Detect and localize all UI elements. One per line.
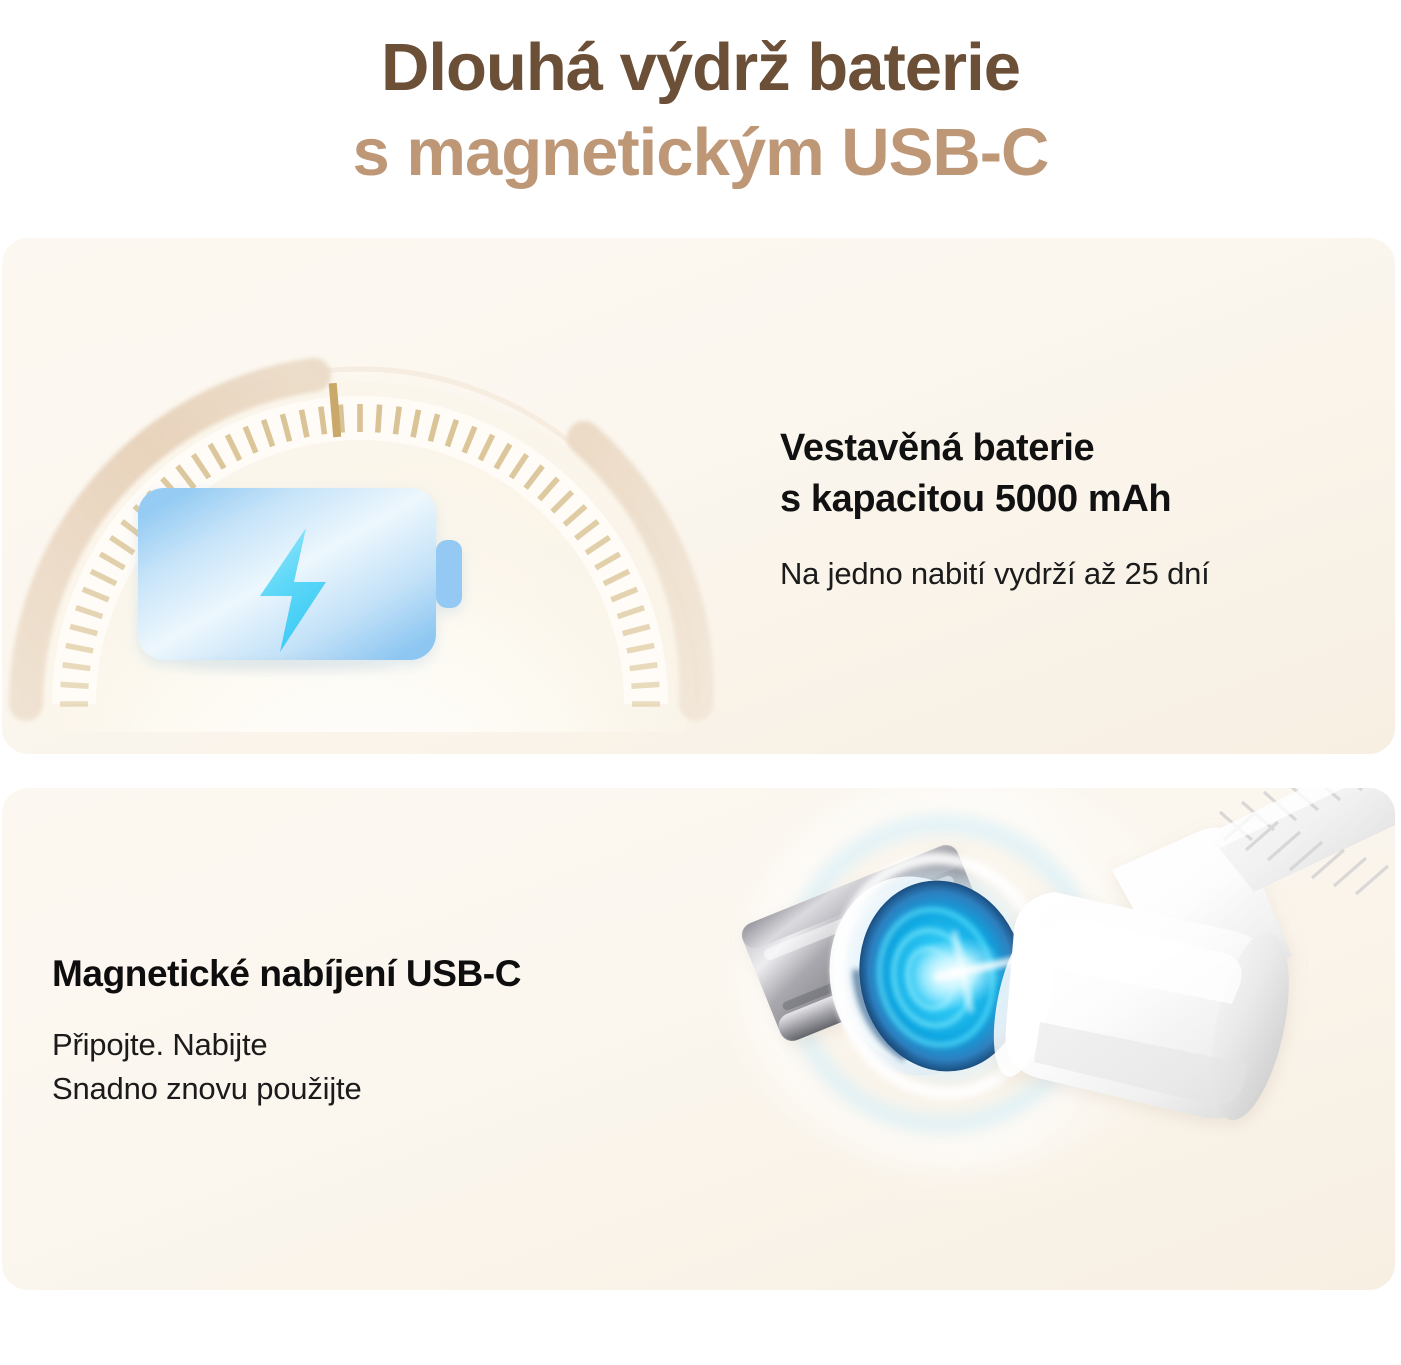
- card-magnetic-subtitle-line-2: Snadno znovu použijte: [52, 1067, 712, 1111]
- card-magnetic-subtitle-line-1: Připojte. Nabijte: [52, 1023, 712, 1067]
- card-magnetic-text-block: Magnetické nabíjení USB-C Připojte. Nabi…: [52, 953, 712, 1111]
- connector-svg: [642, 788, 1395, 1290]
- card-magnetic-charging: Magnetické nabíjení USB-C Připojte. Nabi…: [2, 788, 1395, 1290]
- card-battery-heading-line-2: s kapacitou 5000 mAh: [780, 474, 1370, 525]
- card-battery-subtitle: Na jedno nabití vydrží až 25 dní: [780, 556, 1370, 592]
- battery-charging-icon: [138, 488, 462, 660]
- page-title-line-1: Dlouhá výdrž baterie: [381, 30, 1020, 105]
- card-magnetic-heading: Magnetické nabíjení USB-C: [52, 953, 712, 995]
- card-battery-heading-line-1: Vestavěná baterie: [780, 423, 1370, 474]
- page-title-line-2: s magnetickým USB-C: [353, 113, 1049, 193]
- magnetic-usbc-connector-illustration: [642, 788, 1395, 1290]
- card-battery-capacity: Vestavěná baterie s kapacitou 5000 mAh N…: [2, 238, 1395, 754]
- card-battery-text-block: Vestavěná baterie s kapacitou 5000 mAh N…: [780, 423, 1370, 592]
- infographic-page: Dlouhá výdrž baterie s magnetickým USB-C: [0, 0, 1401, 1365]
- page-header: Dlouhá výdrž baterie s magnetickým USB-C: [0, 0, 1401, 232]
- gauge-svg: [2, 252, 752, 732]
- battery-gauge-illustration: [2, 252, 752, 732]
